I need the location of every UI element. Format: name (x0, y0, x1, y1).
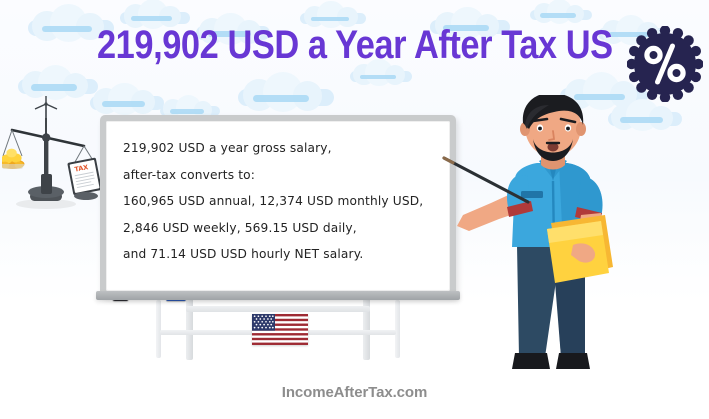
title-bar: 219,902 USD a Year After Tax US (0, 14, 709, 76)
watermark-text: IncomeAfterTax.com (282, 384, 427, 401)
stand-crossbar-top (186, 306, 370, 312)
teacher-presenter-icon (455, 95, 655, 385)
cloud-icon (160, 96, 220, 116)
board-line-2: after-tax converts to: (123, 162, 440, 189)
watermark: IncomeAfterTax.com (0, 384, 709, 402)
us-flag-icon (252, 314, 308, 345)
percent-badge-icon (627, 26, 703, 102)
board-line-1: 219,902 USD a year gross salary, (123, 135, 440, 162)
page-title: 219,902 USD a Year After Tax US (97, 22, 613, 68)
stand-leg-outer-right (395, 300, 400, 358)
board-line-4: 2,846 USD weekly, 569.15 USD daily, (123, 215, 440, 242)
poster-canvas: TAX 219,902 USD a Year After Tax US (0, 0, 709, 419)
pointer-stick-icon (440, 150, 550, 220)
whiteboard-ledge (96, 291, 460, 300)
cloud-icon (90, 84, 164, 110)
stand-leg-outer-left (156, 300, 161, 358)
balance-scales-icon: TAX (2, 112, 102, 212)
whiteboard: 219,902 USD a year gross salary, after-t… (100, 115, 456, 297)
whiteboard-surface: 219,902 USD a year gross salary, after-t… (106, 121, 450, 291)
whiteboard-text: 219,902 USD a year gross salary, after-t… (123, 135, 440, 268)
board-line-3: 160,965 USD annual, 12,374 USD monthly U… (123, 188, 440, 215)
cloud-icon (238, 74, 334, 106)
board-line-5: and 71.14 USD USD hourly NET salary. (123, 241, 440, 268)
